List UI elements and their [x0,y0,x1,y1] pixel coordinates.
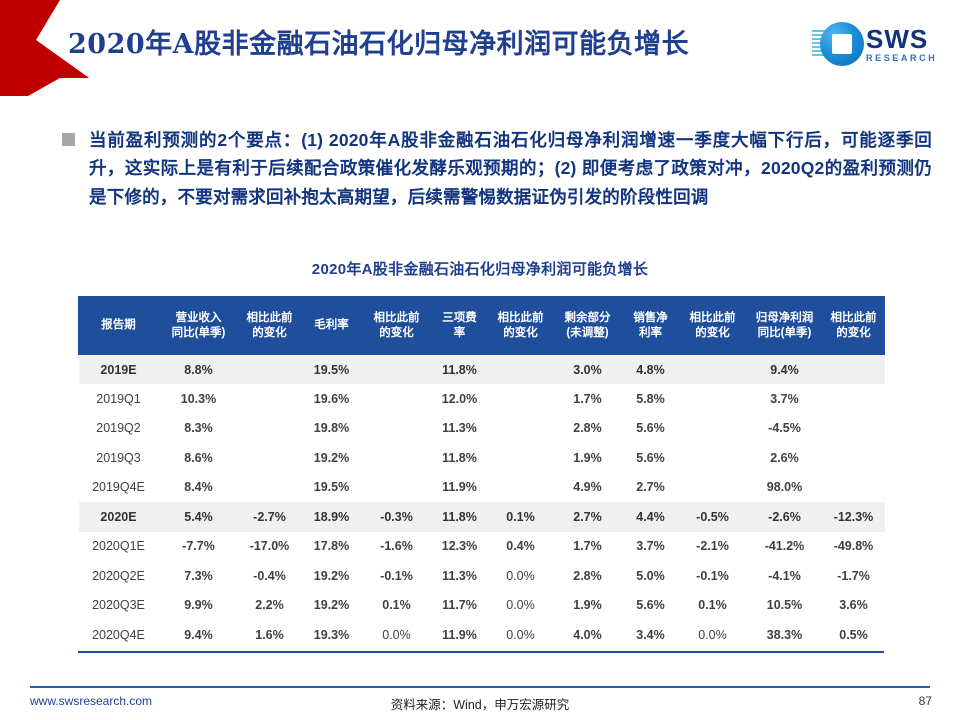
table-cell [239,355,301,385]
table-cell: 0.1% [489,502,553,532]
table-row: 2019Q110.3%19.6%12.0%1.7%5.8%3.7% [79,384,885,414]
table-cell [489,355,553,385]
table-cell: 1.6% [239,620,301,650]
sws-logo-mark-icon [812,20,860,68]
table-row-label: 2020Q3E [79,591,159,621]
table-cell: -0.5% [679,502,747,532]
table-cell [823,384,885,414]
table-cell: 11.3% [431,414,489,444]
table-cell: 4.8% [623,355,679,385]
table-cell [823,414,885,444]
table-row: 2020Q4E9.4%1.6%19.3%0.0%11.9%0.0%4.0%3.4… [79,620,885,650]
table-cell: 2.7% [623,473,679,503]
table-cell: 19.2% [301,561,363,591]
bullet-block: 当前盈利预测的2个要点：(1) 2020年A股非金融石油石化归母净利润增速一季度… [62,126,932,211]
table-cell: 3.0% [553,355,623,385]
table-row: 2020Q3E9.9%2.2%19.2%0.1%11.7%0.0%1.9%5.6… [79,591,885,621]
table-cell: 5.6% [623,414,679,444]
table-cell: 11.8% [431,355,489,385]
table-cell [823,473,885,503]
table-row: 2019Q38.6%19.2%11.8%1.9%5.6%2.6% [79,443,885,473]
table-cell [679,473,747,503]
table-row: 2020E5.4%-2.7%18.9%-0.3%11.8%0.1%2.7%4.4… [79,502,885,532]
table-cell: 8.3% [159,414,239,444]
table-cell: 19.2% [301,443,363,473]
financial-table-wrapper: 报告期营业收入同比(单季)相比此前的变化毛利率相比此前的变化三项费率相比此前的变… [78,296,884,653]
table-cell [363,443,431,473]
table-row: 2019E8.8%19.5%11.8%3.0%4.8%9.4% [79,355,885,385]
table-column-header: 三项费率 [431,297,489,355]
table-cell [363,355,431,385]
table-cell [823,443,885,473]
table-cell: 5.6% [623,591,679,621]
table-cell: 1.7% [553,384,623,414]
table-cell: 3.7% [623,532,679,562]
logo-text: SWS RESEARCH [866,26,937,63]
table-row: 2019Q4E8.4%19.5%11.9%4.9%2.7%98.0% [79,473,885,503]
page-number: 87 [919,694,932,708]
logo-name: SWS [866,26,937,52]
sws-logo: SWS RESEARCH [812,18,952,70]
table-cell: 3.6% [823,591,885,621]
table-title: 2020年A股非金融石油石化归母净利润可能负增长 [0,258,960,279]
table-row-label: 2019Q4E [79,473,159,503]
table-cell: 0.0% [489,620,553,650]
table-cell: -17.0% [239,532,301,562]
table-cell [823,355,885,385]
table-cell [363,414,431,444]
table-row-label: 2019Q2 [79,414,159,444]
table-cell [239,473,301,503]
table-cell [489,414,553,444]
table-cell: -0.1% [679,561,747,591]
table-cell: 0.0% [363,620,431,650]
table-header-row-group: 报告期营业收入同比(单季)相比此前的变化毛利率相比此前的变化三项费率相比此前的变… [79,297,885,355]
table-cell: 19.8% [301,414,363,444]
table-row-label: 2019Q3 [79,443,159,473]
table-column-header: 归母净利润同比(单季) [747,297,823,355]
table-cell: 0.0% [679,620,747,650]
table-cell [489,443,553,473]
table-cell: 5.6% [623,443,679,473]
table-cell: -0.3% [363,502,431,532]
table-cell: 3.4% [623,620,679,650]
table-cell: 1.7% [553,532,623,562]
table-row-label: 2020Q2E [79,561,159,591]
table-cell [239,443,301,473]
bullet-square-icon [62,133,75,146]
table-column-header: 相比此前的变化 [239,297,301,355]
table-cell: 17.8% [301,532,363,562]
table-cell: 3.7% [747,384,823,414]
table-cell: 2.6% [747,443,823,473]
table-column-header: 相比此前的变化 [363,297,431,355]
table-cell: 11.8% [431,502,489,532]
table-cell: 10.5% [747,591,823,621]
table-row-label: 2019E [79,355,159,385]
table-cell: 18.9% [301,502,363,532]
table-body: 2019E8.8%19.5%11.8%3.0%4.8%9.4%2019Q110.… [79,355,885,650]
table-cell: -0.1% [363,561,431,591]
slide-header: 2020年A股非金融石油石化归母净利润可能负增长 SWS RESEARCH [0,0,960,96]
table-cell: -12.3% [823,502,885,532]
table-column-header: 营业收入同比(单季) [159,297,239,355]
table-cell: 5.0% [623,561,679,591]
table-row-label: 2020E [79,502,159,532]
table-column-header: 相比此前的变化 [823,297,885,355]
table-column-header: 剩余部分(未调整) [553,297,623,355]
table-cell: 0.4% [489,532,553,562]
logo-subtitle: RESEARCH [866,54,937,63]
table-cell: 19.3% [301,620,363,650]
table-cell: -41.2% [747,532,823,562]
table-cell [363,384,431,414]
table-cell: 8.4% [159,473,239,503]
table-cell: 11.7% [431,591,489,621]
table-cell: -2.6% [747,502,823,532]
table-cell: 0.1% [363,591,431,621]
table-cell [679,443,747,473]
table-cell: 38.3% [747,620,823,650]
table-row: 2020Q1E-7.7%-17.0%17.8%-1.6%12.3%0.4%1.7… [79,532,885,562]
table-cell: 0.1% [679,591,747,621]
table-cell: 0.0% [489,561,553,591]
table-cell: -0.4% [239,561,301,591]
table-cell: 5.8% [623,384,679,414]
table-cell: 11.9% [431,473,489,503]
table-cell: 1.9% [553,591,623,621]
table-cell [679,414,747,444]
table-cell [363,473,431,503]
table-cell: -1.6% [363,532,431,562]
table-cell: 5.4% [159,502,239,532]
table-cell: 7.3% [159,561,239,591]
table-cell: -1.7% [823,561,885,591]
table-cell: 19.6% [301,384,363,414]
table-cell: 10.3% [159,384,239,414]
table-cell: 9.4% [747,355,823,385]
table-cell: 8.8% [159,355,239,385]
table-cell: 19.2% [301,591,363,621]
financial-table: 报告期营业收入同比(单季)相比此前的变化毛利率相比此前的变化三项费率相比此前的变… [78,296,885,650]
table-cell: 8.6% [159,443,239,473]
table-cell: 4.0% [553,620,623,650]
table-cell [489,473,553,503]
table-cell: 19.5% [301,355,363,385]
table-cell [679,355,747,385]
table-cell: 0.5% [823,620,885,650]
table-column-header: 相比此前的变化 [679,297,747,355]
bullet-paragraph: 当前盈利预测的2个要点：(1) 2020年A股非金融石油石化归母净利润增速一季度… [89,126,932,211]
logo-square-icon [832,34,852,54]
table-cell: -2.7% [239,502,301,532]
table-cell: 98.0% [747,473,823,503]
table-cell: -4.5% [747,414,823,444]
table-cell: -4.1% [747,561,823,591]
table-column-header: 销售净利率 [623,297,679,355]
table-row: 2019Q28.3%19.8%11.3%2.8%5.6%-4.5% [79,414,885,444]
table-cell [489,384,553,414]
table-cell: 0.0% [489,591,553,621]
table-cell: -2.1% [679,532,747,562]
table-cell: 4.9% [553,473,623,503]
table-row-label: 2020Q4E [79,620,159,650]
footer-divider [30,686,930,688]
table-column-header: 报告期 [79,297,159,355]
table-cell: 12.0% [431,384,489,414]
table-cell: 2.8% [553,414,623,444]
table-cell: 11.3% [431,561,489,591]
table-cell: 9.9% [159,591,239,621]
table-column-header: 毛利率 [301,297,363,355]
table-cell: -49.8% [823,532,885,562]
table-row-label: 2019Q1 [79,384,159,414]
table-cell: 11.8% [431,443,489,473]
page-title: 2020年A股非金融石油石化归母净利润可能负增长 [68,22,808,61]
table-cell: 19.5% [301,473,363,503]
table-bottom-rule [78,651,884,653]
table-row: 2020Q2E7.3%-0.4%19.2%-0.1%11.3%0.0%2.8%5… [79,561,885,591]
footer-source: 资料来源：Wind，申万宏源研究 [0,694,960,713]
table-column-header: 相比此前的变化 [489,297,553,355]
table-cell: 2.2% [239,591,301,621]
table-cell: 11.9% [431,620,489,650]
table-cell [239,414,301,444]
table-cell: 2.7% [553,502,623,532]
slide: 2020年A股非金融石油石化归母净利润可能负增长 SWS RESEARCH 当前… [0,0,960,720]
table-cell: 9.4% [159,620,239,650]
table-header-row: 报告期营业收入同比(单季)相比此前的变化毛利率相比此前的变化三项费率相比此前的变… [79,297,885,355]
table-row-label: 2020Q1E [79,532,159,562]
table-cell: 1.9% [553,443,623,473]
table-cell [679,384,747,414]
table-cell: 2.8% [553,561,623,591]
table-cell: 12.3% [431,532,489,562]
table-cell: 4.4% [623,502,679,532]
table-cell [239,384,301,414]
table-cell: -7.7% [159,532,239,562]
